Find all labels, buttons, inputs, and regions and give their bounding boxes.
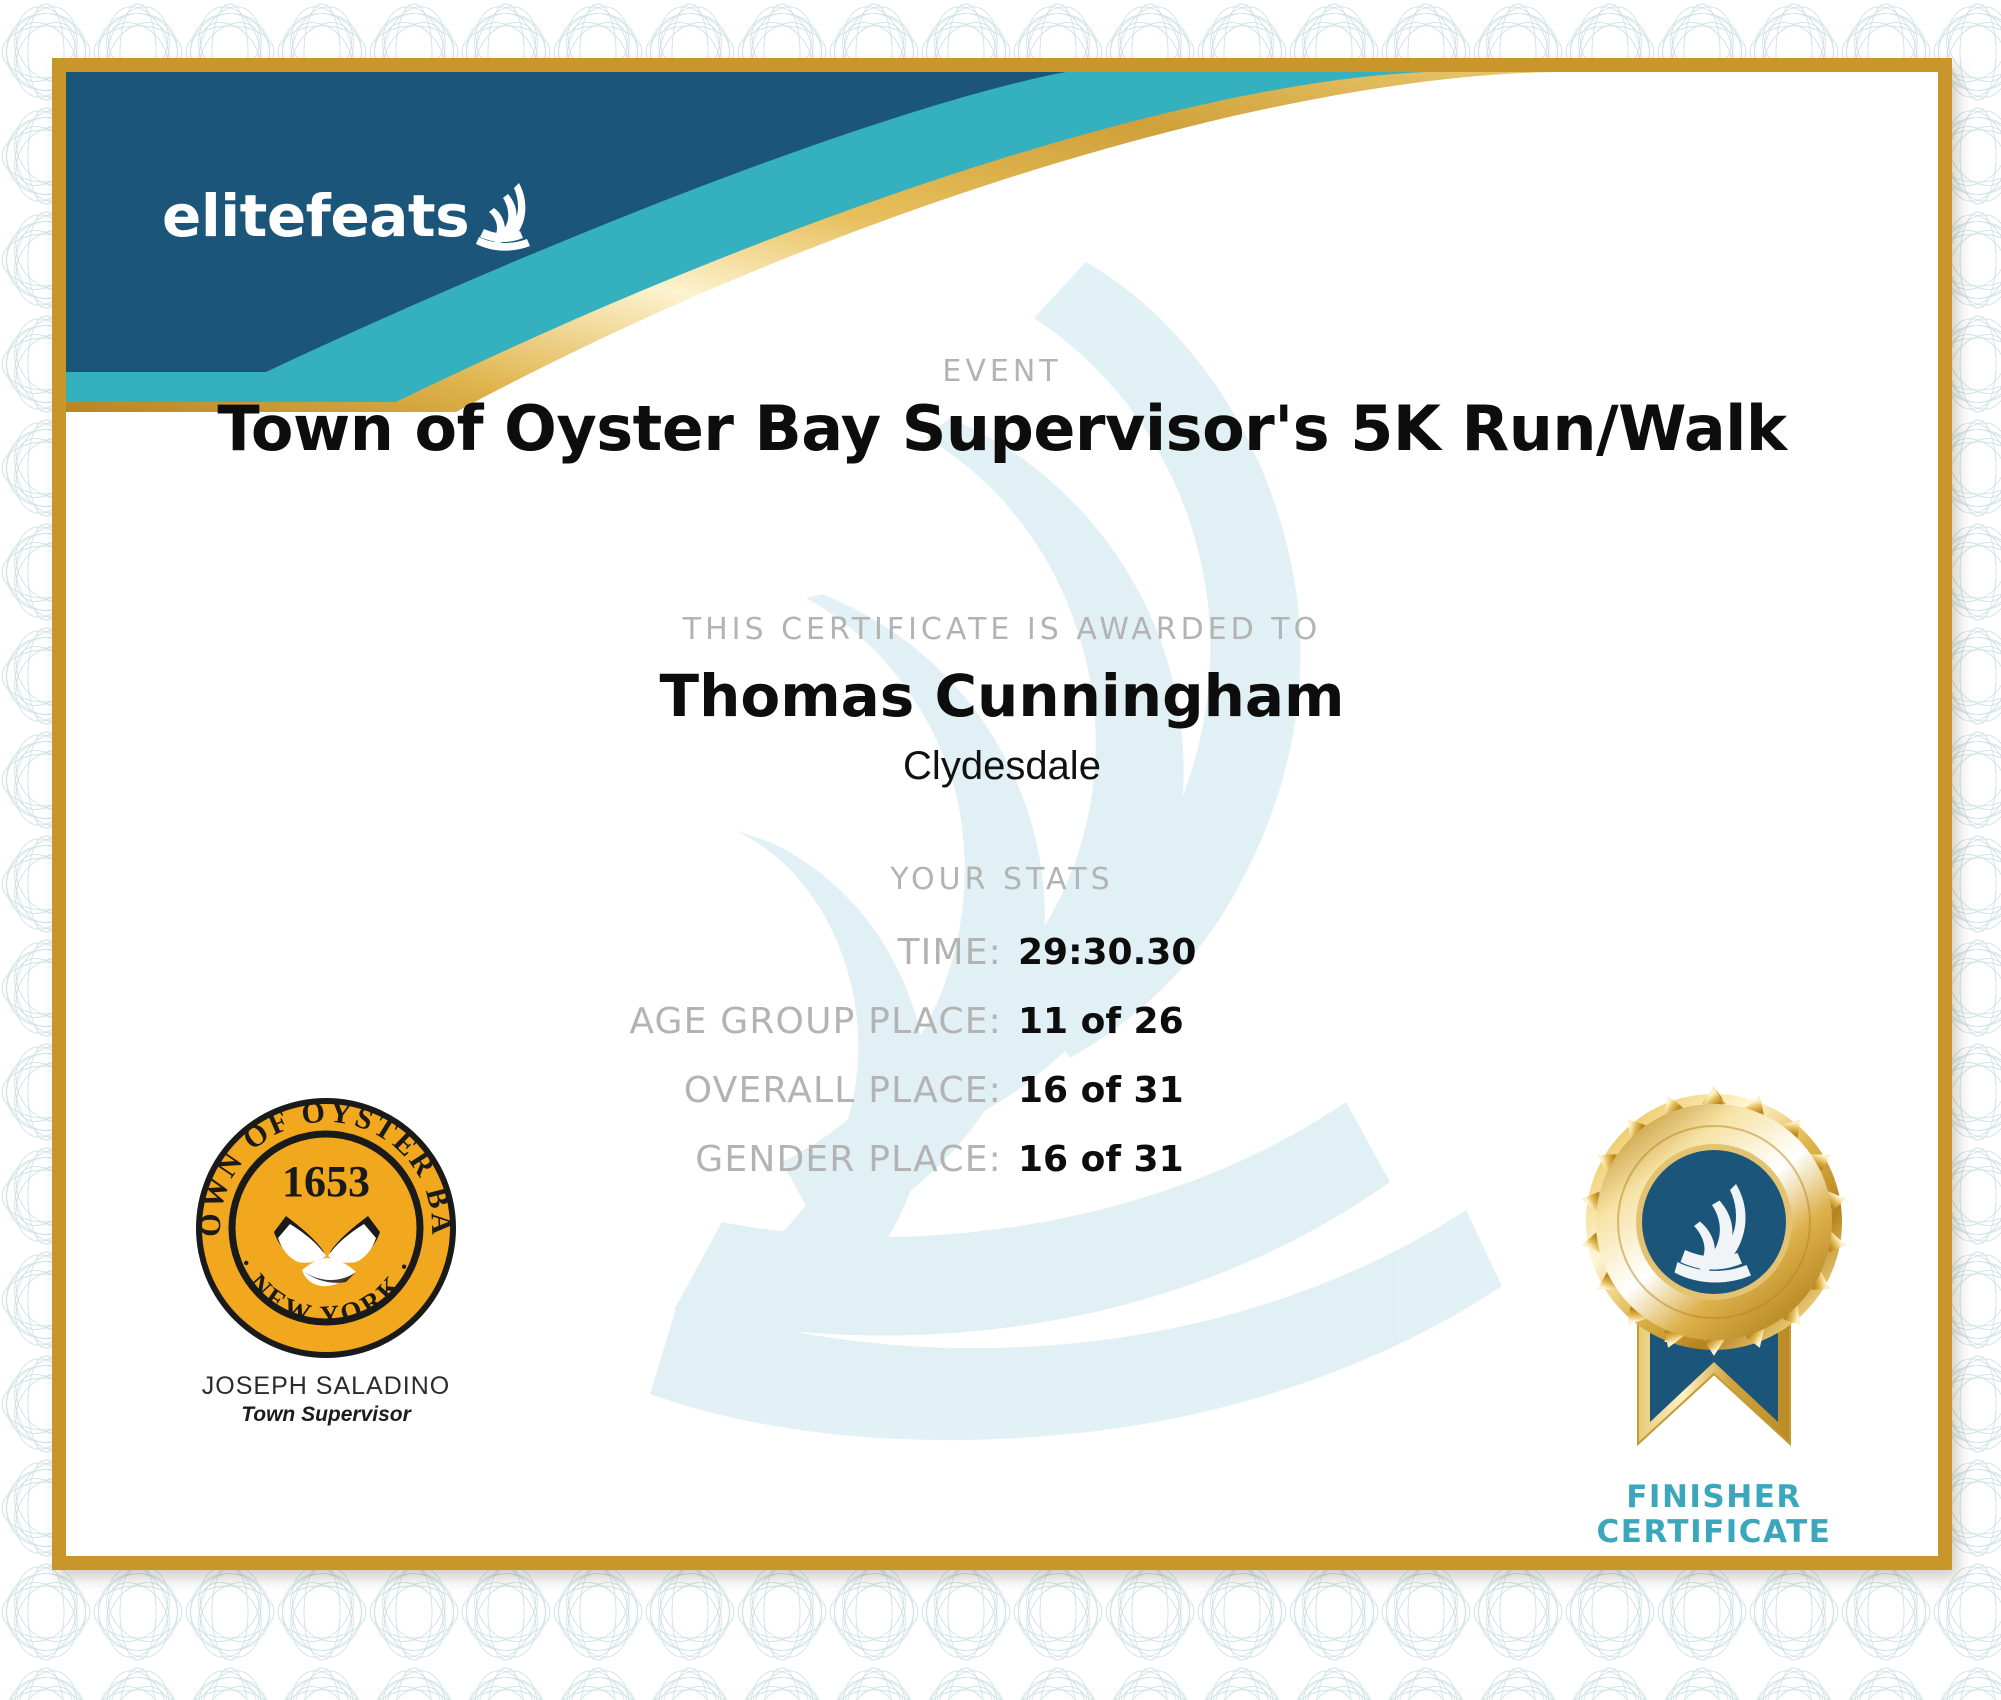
medal-caption-line-2: CERTIFICATE bbox=[1544, 1515, 1884, 1550]
stat-label-age-group-place: AGE GROUP PLACE: bbox=[446, 1001, 1002, 1042]
stat-label-gender-place: GENDER PLACE: bbox=[446, 1139, 1002, 1180]
medal-caption: FINISHER CERTIFICATE bbox=[1544, 1480, 1884, 1551]
gold-border-frame: elitefeats EVENT Town of Oyster Bay Supe… bbox=[52, 58, 1952, 1570]
stat-value-age-group-place: 11 of 26 bbox=[1002, 1001, 1558, 1042]
recipient-division: Clydesdale bbox=[66, 744, 1938, 789]
awarded-to-label: THIS CERTIFICATE IS AWARDED TO bbox=[66, 612, 1938, 647]
certificate-page: elitefeats EVENT Town of Oyster Bay Supe… bbox=[0, 0, 2001, 1700]
signer-name: JOSEPH SALADINO bbox=[176, 1372, 476, 1401]
certificate-card: elitefeats EVENT Town of Oyster Bay Supe… bbox=[66, 72, 1938, 1556]
town-seal-block: TOWN OF OYSTER BAY · NEW YORK · 1653 bbox=[176, 1092, 476, 1427]
signer-role: Town Supervisor bbox=[176, 1403, 476, 1427]
recipient-name: Thomas Cunningham bbox=[66, 662, 1938, 730]
medal-caption-line-1: FINISHER bbox=[1544, 1480, 1884, 1515]
stat-value-overall-place: 16 of 31 bbox=[1002, 1070, 1558, 1111]
stat-label-overall-place: OVERALL PLACE: bbox=[446, 1070, 1002, 1111]
finisher-medal-block: 2023 bbox=[1544, 1074, 1884, 1551]
your-stats-label: YOUR STATS bbox=[66, 862, 1938, 897]
stat-label-time: TIME: bbox=[446, 932, 1002, 973]
event-title: Town of Oyster Bay Supervisor's 5K Run/W… bbox=[66, 392, 1938, 465]
stat-value-time: 29:30.30 bbox=[1002, 932, 1558, 973]
stat-value-gender-place: 16 of 31 bbox=[1002, 1139, 1558, 1180]
finisher-medal-icon: 2023 bbox=[1564, 1074, 1864, 1494]
event-label: EVENT bbox=[66, 354, 1938, 389]
stats-row: AGE GROUP PLACE: 11 of 26 bbox=[66, 1001, 1938, 1042]
town-of-oyster-bay-seal-icon: TOWN OF OYSTER BAY · NEW YORK · 1653 bbox=[190, 1092, 462, 1364]
stats-row: TIME: 29:30.30 bbox=[66, 932, 1938, 973]
svg-text:1653: 1653 bbox=[282, 1157, 370, 1206]
